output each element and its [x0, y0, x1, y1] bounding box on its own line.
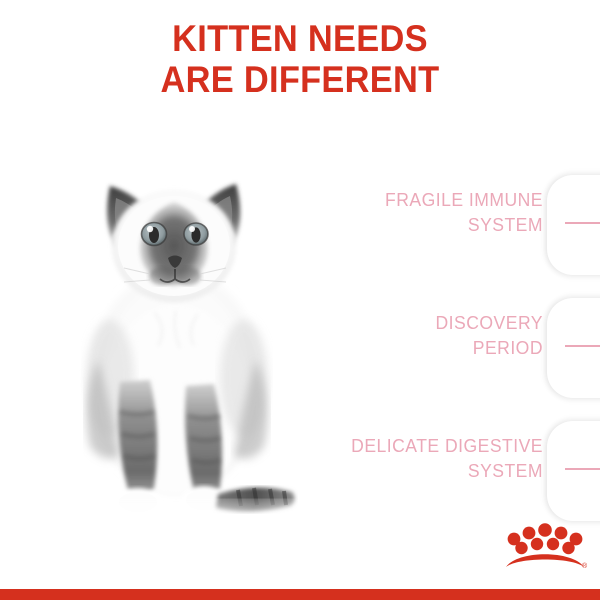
page-title: KITTEN NEEDS ARE DIFFERENT: [21, 18, 579, 100]
headline-line-1: KITTEN NEEDS: [21, 18, 579, 59]
benefit-row-discovery-period: DISCOVERY PERIOD: [300, 288, 600, 408]
connector-line: [565, 468, 600, 470]
connector-line: [565, 222, 600, 224]
royal-canin-crown-logo: ®: [500, 520, 590, 578]
headline-line-2: ARE DIFFERENT: [21, 59, 579, 100]
bracket-panel: [547, 175, 600, 275]
bottom-accent-bar: [0, 589, 600, 600]
benefit-row-delicate-digestive-system: DELICATE DIGESTIVE SYSTEM: [300, 411, 600, 531]
registered-mark: ®: [582, 562, 588, 570]
bracket-panel: [547, 298, 600, 398]
benefit-label-line-2: SYSTEM: [325, 458, 544, 483]
benefit-label: DELICATE DIGESTIVE SYSTEM: [325, 433, 544, 483]
benefit-label-line-1: FRAGILE IMMUNE: [325, 187, 544, 212]
benefit-label-line-1: DISCOVERY: [325, 310, 544, 335]
bracket-panel: [547, 421, 600, 521]
benefit-label-line-2: PERIOD: [325, 335, 544, 360]
connector-line: [565, 345, 600, 347]
kitten-photo: [58, 150, 298, 535]
benefit-label: DISCOVERY PERIOD: [325, 310, 544, 360]
benefit-label-line-1: DELICATE DIGESTIVE: [325, 433, 544, 458]
promo-banner: KITTEN NEEDS ARE DIFFERENT: [0, 0, 600, 600]
benefit-label-line-2: SYSTEM: [325, 212, 544, 237]
benefit-label: FRAGILE IMMUNE SYSTEM: [325, 187, 544, 237]
benefit-row-fragile-immune-system: FRAGILE IMMUNE SYSTEM: [300, 165, 600, 285]
